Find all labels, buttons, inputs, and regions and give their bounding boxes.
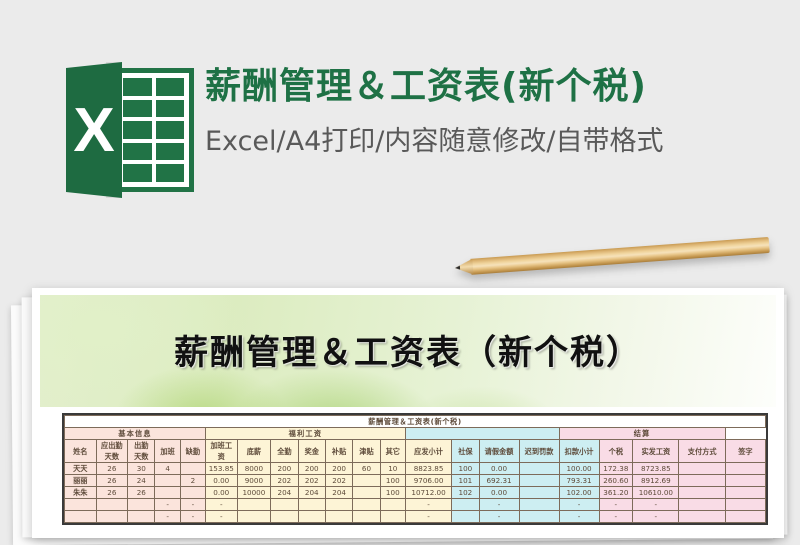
- cell-全勤[interactable]: 204: [271, 487, 298, 499]
- cell-底薪[interactable]: 9000: [237, 475, 271, 487]
- cell-name[interactable]: 朱朱: [65, 487, 97, 499]
- cell-应发小计[interactable]: 10712.00: [405, 487, 451, 499]
- cell-迟到罚款[interactable]: [519, 487, 559, 499]
- cell-加班工资[interactable]: -: [205, 499, 237, 511]
- cell-迟到罚款[interactable]: [519, 463, 559, 475]
- cell-全勤[interactable]: [271, 511, 298, 523]
- cell-支付方式[interactable]: [679, 463, 725, 475]
- cell-加班工资[interactable]: 153.85: [205, 463, 237, 475]
- cell-加班工资[interactable]: 0.00: [205, 475, 237, 487]
- cell-请假金额[interactable]: -: [479, 499, 519, 511]
- cell-出勤天数[interactable]: [128, 511, 155, 523]
- column-header-1: 姓名: [65, 440, 97, 463]
- column-header-19: 实发工资: [633, 440, 679, 463]
- spreadsheet-container: 薪酬管理＆工资表(新个税)基本信息福利工资结算姓名应出勤天数出勤天数加班缺勤加班…: [62, 413, 768, 525]
- column-header-17: 扣款小计: [559, 440, 599, 463]
- cell-请假金额[interactable]: 0.00: [479, 463, 519, 475]
- cell-底薪[interactable]: [237, 511, 271, 523]
- column-header-15: 请假金额: [479, 440, 519, 463]
- excel-logo-icon: X: [66, 62, 194, 198]
- cell-补贴[interactable]: 204: [325, 487, 352, 499]
- pencil-decoration: [454, 237, 769, 276]
- sheet-title-cell: 薪酬管理＆工资表(新个税): [65, 416, 766, 428]
- cell-奖金[interactable]: [298, 511, 325, 523]
- cell-应出勤天数[interactable]: 26: [96, 487, 128, 499]
- cell-应出勤天数[interactable]: [96, 511, 128, 523]
- cell-社保[interactable]: 100: [452, 463, 479, 475]
- column-header-9: 奖金: [298, 440, 325, 463]
- cell-津贴[interactable]: [353, 499, 380, 511]
- cell-加班[interactable]: 4: [155, 463, 180, 475]
- cell-出勤天数[interactable]: 30: [128, 463, 155, 475]
- cell-奖金[interactable]: 202: [298, 475, 325, 487]
- cell-应出勤天数[interactable]: 26: [96, 463, 128, 475]
- column-header-12: 其它: [380, 440, 405, 463]
- cell-加班[interactable]: -: [155, 511, 180, 523]
- excel-sheet-glyph: [113, 68, 194, 192]
- cell-应发小计[interactable]: -: [405, 511, 451, 523]
- cell-社保[interactable]: 101: [452, 475, 479, 487]
- cell-出勤天数[interactable]: 24: [128, 475, 155, 487]
- cell-加班[interactable]: [155, 487, 180, 499]
- column-header-4: 加班: [155, 440, 180, 463]
- salary-table: 薪酬管理＆工资表(新个税)基本信息福利工资结算姓名应出勤天数出勤天数加班缺勤加班…: [64, 415, 766, 523]
- column-header-8: 全勤: [271, 440, 298, 463]
- cell-实发工资[interactable]: 8912.69: [633, 475, 679, 487]
- cell-签字[interactable]: [725, 463, 765, 475]
- column-header-2: 应出勤天数: [96, 440, 128, 463]
- cell-name[interactable]: [65, 499, 97, 511]
- document-preview: 薪酬管理＆工资表（新个税） 薪酬管理＆工资表(新个税)基本信息福利工资结算姓名应…: [32, 288, 784, 538]
- cell-其它[interactable]: [380, 499, 405, 511]
- column-header-5: 缺勤: [180, 440, 205, 463]
- cell-扣款小计[interactable]: 102.00: [559, 487, 599, 499]
- cell-补贴[interactable]: [325, 511, 352, 523]
- column-header-6: 加班工资: [205, 440, 237, 463]
- cell-签字[interactable]: [725, 499, 765, 511]
- cell-签字[interactable]: [725, 475, 765, 487]
- cell-津贴[interactable]: [353, 475, 380, 487]
- cell-底薪[interactable]: [237, 499, 271, 511]
- cell-全勤[interactable]: 202: [271, 475, 298, 487]
- cell-个税[interactable]: -: [599, 499, 633, 511]
- cell-签字[interactable]: [725, 511, 765, 523]
- document-cover-header: 薪酬管理＆工资表（新个税）: [40, 295, 776, 407]
- cell-加班工资[interactable]: -: [205, 511, 237, 523]
- column-header-16: 迟到罚款: [519, 440, 559, 463]
- group-header-4: 结算: [559, 428, 725, 440]
- cell-应出勤天数[interactable]: [96, 499, 128, 511]
- cell-支付方式[interactable]: [679, 511, 725, 523]
- document-page: 薪酬管理＆工资表（新个税） 薪酬管理＆工资表(新个税)基本信息福利工资结算姓名应…: [40, 295, 776, 538]
- cell-应发小计[interactable]: 9706.00: [405, 475, 451, 487]
- column-header-20: 支付方式: [679, 440, 725, 463]
- column-header-row: 姓名应出勤天数出勤天数加班缺勤加班工资底薪全勤奖金补贴津贴其它应发小计社保请假金…: [65, 440, 766, 463]
- excel-x-letter: X: [66, 62, 122, 198]
- cell-底薪[interactable]: 10000: [237, 487, 271, 499]
- cell-支付方式[interactable]: [679, 487, 725, 499]
- table-row[interactable]: --------: [65, 499, 766, 511]
- cell-name[interactable]: 天天: [65, 463, 97, 475]
- cell-其它[interactable]: 100: [380, 475, 405, 487]
- cell-全勤[interactable]: [271, 499, 298, 511]
- header-banner: X 薪酬管理＆工资表(新个税) Excel/A4打印/内容随意修改/自带格式: [0, 0, 800, 228]
- column-header-3: 出勤天数: [128, 440, 155, 463]
- cell-缺勤[interactable]: [180, 487, 205, 499]
- document-cover-title: 薪酬管理＆工资表（新个税）: [40, 325, 776, 374]
- group-header-3: [405, 428, 559, 440]
- cell-奖金[interactable]: 204: [298, 487, 325, 499]
- cell-应发小计[interactable]: 8823.85: [405, 463, 451, 475]
- cell-社保[interactable]: 102: [452, 487, 479, 499]
- cell-缺勤[interactable]: -: [180, 511, 205, 523]
- cell-迟到罚款[interactable]: [519, 499, 559, 511]
- cell-应发小计[interactable]: -: [405, 499, 451, 511]
- cell-补贴[interactable]: 200: [325, 463, 352, 475]
- cell-扣款小计[interactable]: -: [559, 499, 599, 511]
- column-header-7: 底薪: [237, 440, 271, 463]
- cell-全勤[interactable]: 200: [271, 463, 298, 475]
- excel-grid-cells: [123, 78, 184, 182]
- cell-其它[interactable]: 100: [380, 487, 405, 499]
- cell-扣款小计[interactable]: 100.00: [559, 463, 599, 475]
- cell-实发工资[interactable]: -: [633, 499, 679, 511]
- banner-subtitle: Excel/A4打印/内容随意修改/自带格式: [205, 124, 795, 160]
- cell-支付方式[interactable]: [679, 475, 725, 487]
- cell-个税[interactable]: -: [599, 511, 633, 523]
- column-header-14: 社保: [452, 440, 479, 463]
- column-header-18: 个税: [599, 440, 633, 463]
- group-header-row: 基本信息福利工资结算: [65, 428, 766, 440]
- cell-迟到罚款[interactable]: [519, 511, 559, 523]
- cell-津贴[interactable]: [353, 487, 380, 499]
- cell-奖金[interactable]: [298, 499, 325, 511]
- cell-底薪[interactable]: 8000: [237, 463, 271, 475]
- cell-缺勤[interactable]: -: [180, 499, 205, 511]
- column-header-10: 补贴: [325, 440, 352, 463]
- cell-应出勤天数[interactable]: 26: [96, 475, 128, 487]
- cell-请假金额[interactable]: 0.00: [479, 487, 519, 499]
- column-header-11: 津贴: [353, 440, 380, 463]
- cell-实发工资[interactable]: 10610.00: [633, 487, 679, 499]
- banner-title: 薪酬管理＆工资表(新个税): [205, 64, 795, 110]
- cell-其它[interactable]: [380, 511, 405, 523]
- cell-加班[interactable]: -: [155, 499, 180, 511]
- table-row[interactable]: 丽丽262420.0090002022022021009706.00101692…: [65, 475, 766, 487]
- cell-请假金额[interactable]: -: [479, 511, 519, 523]
- cell-个税[interactable]: 172.38: [599, 463, 633, 475]
- cell-name[interactable]: 丽丽: [65, 475, 97, 487]
- cell-请假金额[interactable]: 692.31: [479, 475, 519, 487]
- pencil-body: [470, 237, 769, 275]
- cell-奖金[interactable]: 200: [298, 463, 325, 475]
- table-row[interactable]: 天天26304153.85800020020020060108823.85100…: [65, 463, 766, 475]
- cell-扣款小计[interactable]: -: [559, 511, 599, 523]
- cell-支付方式[interactable]: [679, 499, 725, 511]
- group-header-1: 基本信息: [65, 428, 206, 440]
- column-header-21: 签字: [725, 440, 765, 463]
- cell-加班工资[interactable]: 0.00: [205, 487, 237, 499]
- cell-name[interactable]: [65, 511, 97, 523]
- cell-其它[interactable]: 10: [380, 463, 405, 475]
- table-row[interactable]: --------: [65, 511, 766, 523]
- column-header-13: 应发小计: [405, 440, 451, 463]
- cell-津贴[interactable]: [353, 511, 380, 523]
- cell-缺勤[interactable]: [180, 463, 205, 475]
- cell-社保[interactable]: [452, 499, 479, 511]
- cell-扣款小计[interactable]: 793.31: [559, 475, 599, 487]
- cell-实发工资[interactable]: 8723.85: [633, 463, 679, 475]
- cell-迟到罚款[interactable]: [519, 475, 559, 487]
- sheet-title-row: 薪酬管理＆工资表(新个税): [65, 416, 766, 428]
- table-row[interactable]: 朱朱26260.001000020420420410010712.001020.…: [65, 487, 766, 499]
- pencil-lead: [455, 266, 460, 270]
- cell-出勤天数[interactable]: [128, 499, 155, 511]
- group-header-2: 福利工资: [205, 428, 405, 440]
- cell-个税[interactable]: 361.20: [599, 487, 633, 499]
- cell-加班[interactable]: [155, 475, 180, 487]
- cell-补贴[interactable]: [325, 499, 352, 511]
- cell-实发工资[interactable]: -: [633, 511, 679, 523]
- cell-出勤天数[interactable]: 26: [128, 487, 155, 499]
- cell-签字[interactable]: [725, 487, 765, 499]
- cell-缺勤[interactable]: 2: [180, 475, 205, 487]
- cell-补贴[interactable]: 202: [325, 475, 352, 487]
- cell-社保[interactable]: [452, 511, 479, 523]
- banner-text-block: 薪酬管理＆工资表(新个税) Excel/A4打印/内容随意修改/自带格式: [205, 64, 795, 160]
- cell-个税[interactable]: 260.60: [599, 475, 633, 487]
- cell-津贴[interactable]: 60: [353, 463, 380, 475]
